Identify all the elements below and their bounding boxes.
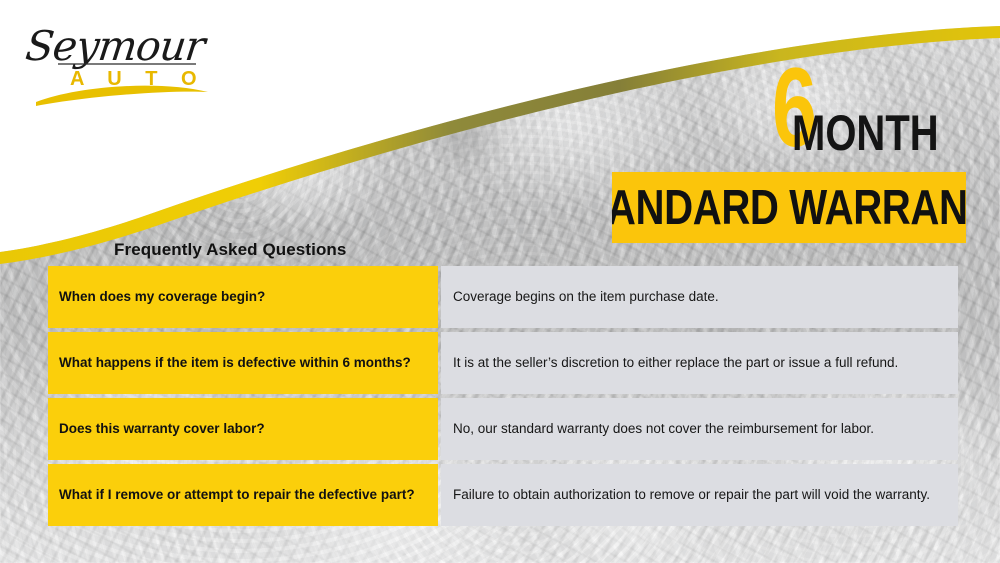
faq-answer-cell: No, our standard warranty does not cover… <box>441 398 958 460</box>
table-row: When does my coverage begin? Coverage be… <box>48 266 958 328</box>
warranty-slide: Seymour A U T O 6 MONTH STANDARD WARRANT… <box>0 0 1000 563</box>
table-row: Does this warranty cover labor? No, our … <box>48 398 958 460</box>
faq-table: When does my coverage begin? Coverage be… <box>48 266 958 526</box>
faq-question-cell: When does my coverage begin? <box>48 266 438 328</box>
brand-logo: Seymour A U T O <box>18 18 218 108</box>
table-row: What happens if the item is defective wi… <box>48 332 958 394</box>
faq-question-text: When does my coverage begin? <box>59 288 265 306</box>
warranty-headline: 6 MONTH STANDARD WARRANTY <box>612 50 968 250</box>
faq-question-cell: Does this warranty cover labor? <box>48 398 438 460</box>
faq-answer-cell: Coverage begins on the item purchase dat… <box>441 266 958 328</box>
faq-question-text: What happens if the item is defective wi… <box>59 354 411 372</box>
faq-question-cell: What happens if the item is defective wi… <box>48 332 438 394</box>
faq-question-text: What if I remove or attempt to repair th… <box>59 486 415 504</box>
faq-answer-text: It is at the seller’s discretion to eith… <box>453 354 944 373</box>
faq-answer-cell: It is at the seller’s discretion to eith… <box>441 332 958 394</box>
duration-unit: MONTH <box>792 113 939 154</box>
faq-answer-cell: Failure to obtain authorization to remov… <box>441 464 958 526</box>
faq-answer-text: No, our standard warranty does not cover… <box>453 420 944 439</box>
duration-row: 6 MONTH <box>772 50 976 154</box>
table-row: What if I remove or attempt to repair th… <box>48 464 958 526</box>
faq-heading: Frequently Asked Questions <box>114 240 346 260</box>
logo-swoosh-icon <box>18 18 218 108</box>
faq-answer-text: Failure to obtain authorization to remov… <box>453 486 944 505</box>
faq-question-cell: What if I remove or attempt to repair th… <box>48 464 438 526</box>
standard-warranty-text: STANDARD WARRANTY <box>612 180 966 236</box>
faq-question-text: Does this warranty cover labor? <box>59 420 265 438</box>
standard-warranty-banner: STANDARD WARRANTY <box>612 172 966 243</box>
faq-answer-text: Coverage begins on the item purchase dat… <box>453 288 944 307</box>
